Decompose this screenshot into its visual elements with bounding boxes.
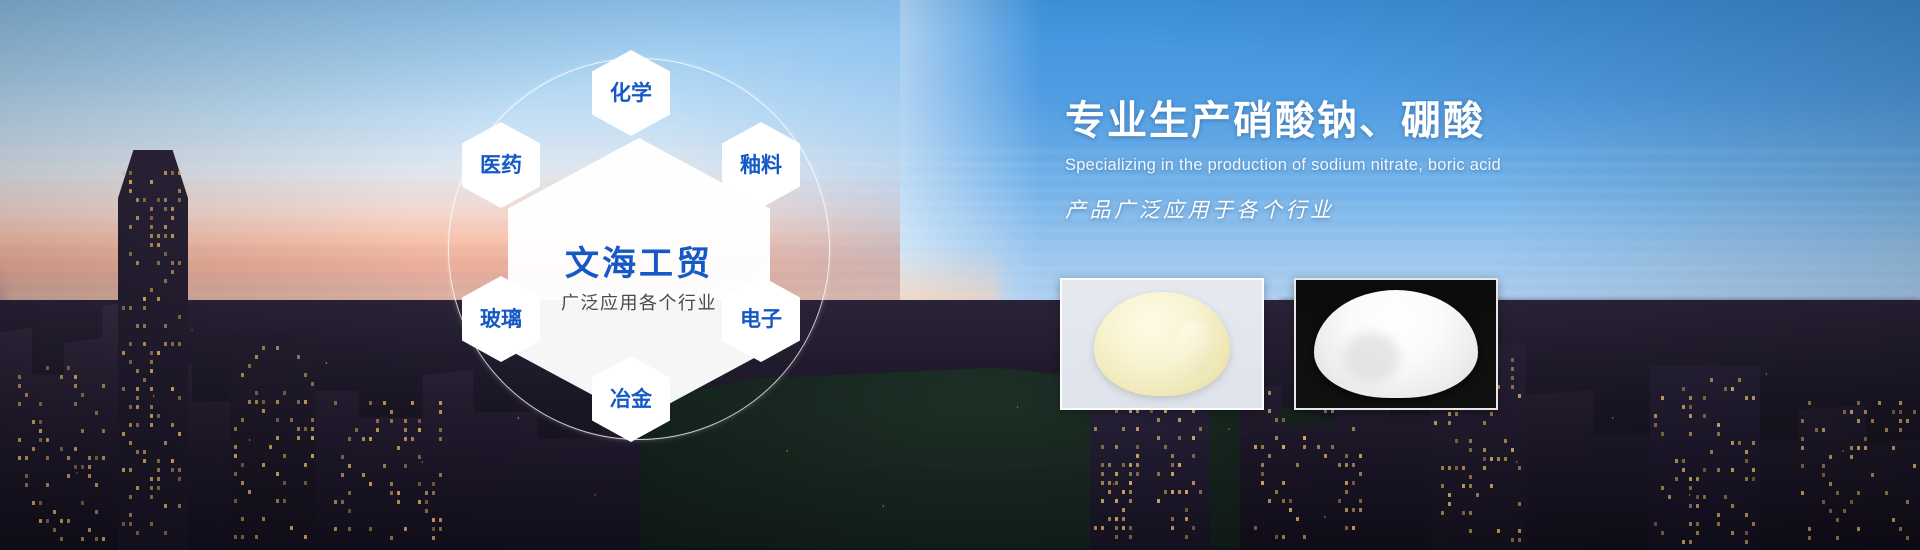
industry-label: 釉料 (740, 155, 782, 176)
industry-label: 化学 (610, 83, 652, 104)
product-photo-sodium-nitrate (1060, 278, 1264, 410)
promo-banner: 文海工贸 广泛应用各个行业 化学 釉料 电子 冶金 玻璃 医药 专业生产硝酸钠、… (0, 0, 1920, 550)
industry-label: 医药 (480, 155, 522, 176)
tagline: 产品广泛应用于各个行业 (1065, 194, 1685, 224)
background-vignette (0, 0, 1920, 550)
company-tagline: 广泛应用各个行业 (561, 294, 717, 312)
industry-label: 冶金 (610, 389, 652, 410)
banner-copy-block: 专业生产硝酸钠、硼酸 Specializing in the productio… (1065, 98, 1685, 224)
product-photo-boric-acid (1294, 278, 1498, 410)
industry-label: 玻璃 (480, 309, 522, 330)
company-name: 文海工贸 (565, 247, 713, 281)
subheadline-english: Specializing in the production of sodium… (1065, 156, 1685, 175)
background-cityscape-image (0, 0, 1920, 550)
headline: 专业生产硝酸钠、硼酸 (1065, 98, 1685, 144)
powder-grain-texture (1296, 280, 1496, 408)
powder-grain-texture (1062, 280, 1262, 408)
industry-hex-diagram: 文海工贸 广泛应用各个行业 化学 釉料 电子 冶金 玻璃 医药 (430, 18, 850, 528)
product-photo-strip (1060, 278, 1498, 410)
industry-label: 电子 (740, 309, 782, 330)
